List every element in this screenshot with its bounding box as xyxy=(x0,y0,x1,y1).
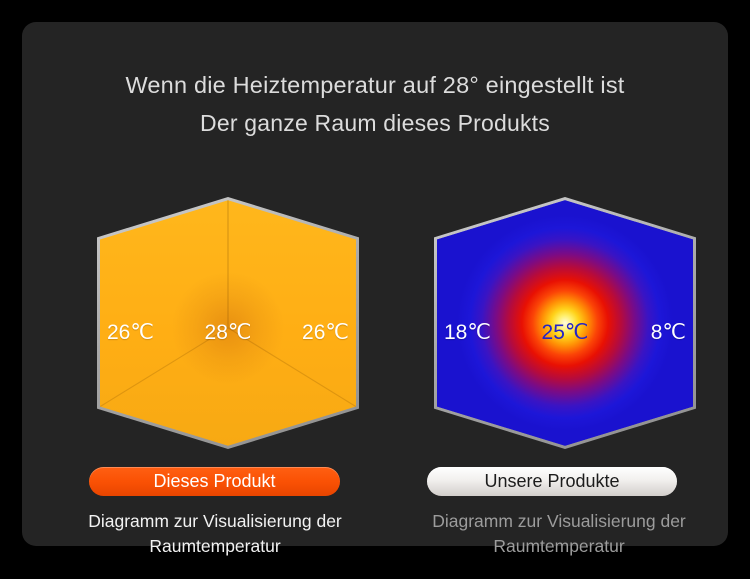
screenshot-root: Wenn die Heiztemperatur auf 28° eingeste… xyxy=(0,0,750,579)
room-border-right xyxy=(434,197,696,449)
room-inner-right xyxy=(437,200,693,446)
room-diagram-left: 26℃ 28℃ 26℃ xyxy=(75,175,375,455)
caption-left: Diagramm zur Visualisierung der Raumtemp… xyxy=(60,509,370,559)
caption-left-line2: Raumtemperatur xyxy=(60,534,370,559)
content-panel: Wenn die Heiztemperatur auf 28° eingeste… xyxy=(22,22,728,546)
corner-lines-svg xyxy=(100,200,356,446)
room-border-left xyxy=(97,197,359,449)
caption-left-line1: Diagramm zur Visualisierung der xyxy=(60,509,370,534)
this-product-button[interactable]: Dieses Produkt xyxy=(89,467,340,496)
heading-block: Wenn die Heiztemperatur auf 28° eingeste… xyxy=(22,66,728,142)
room-diagram-right: 18℃ 25℃ 8℃ xyxy=(412,175,712,455)
heatmap-radial-hotspot xyxy=(437,200,693,446)
room-corner-lines-left xyxy=(100,200,356,446)
headline-secondary: Der ganze Raum dieses Produkts xyxy=(22,104,728,142)
caption-right-line2: Raumtemperatur xyxy=(404,534,714,559)
room-inner-left xyxy=(100,200,356,446)
headline-primary: Wenn die Heiztemperatur auf 28° eingeste… xyxy=(22,66,728,104)
caption-right-line1: Diagramm zur Visualisierung der xyxy=(404,509,714,534)
caption-right: Diagramm zur Visualisierung der Raumtemp… xyxy=(404,509,714,559)
our-products-button[interactable]: Unsere Produkte xyxy=(427,467,677,496)
